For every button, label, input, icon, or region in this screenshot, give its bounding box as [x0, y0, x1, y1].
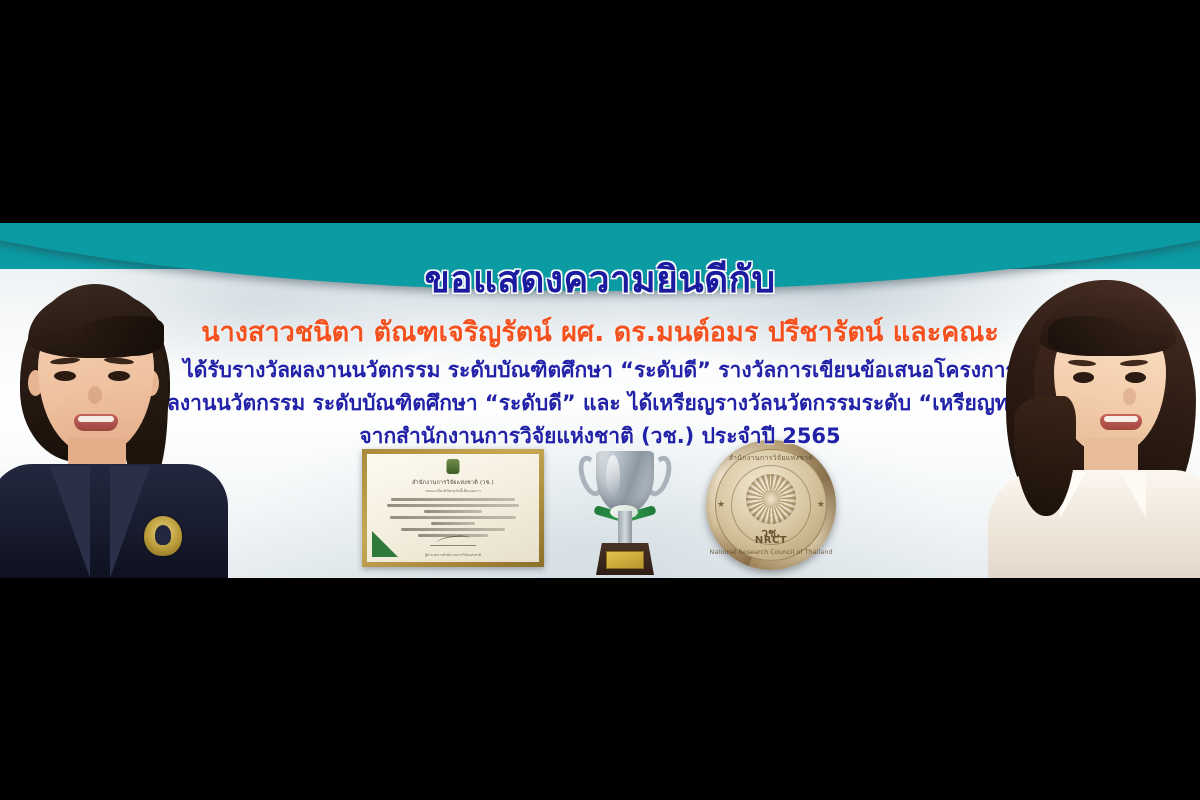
left-university-crest-icon: [144, 516, 182, 556]
right-eye-left: [1073, 372, 1094, 383]
right-mouth: [1100, 414, 1142, 430]
left-lapel-left: [50, 466, 90, 578]
left-hair-fringe: [28, 290, 164, 358]
right-nose: [1123, 388, 1136, 405]
banner-stage: สำนักงานการวิจัยแห่งชาติ (วช.) ขอมอบเกีย…: [0, 0, 1200, 800]
person-photo-right: [989, 278, 1200, 578]
congratulations-banner: สำนักงานการวิจัยแห่งชาติ (วช.) ขอมอบเกีย…: [0, 223, 1200, 578]
right-collar-right: [1120, 472, 1146, 518]
person-photo-left: [0, 278, 224, 578]
right-white-blouse: [988, 470, 1200, 578]
left-lapel-right: [110, 466, 150, 578]
left-eye-left: [54, 371, 76, 381]
right-eye-right: [1125, 372, 1146, 383]
left-mouth: [74, 414, 118, 431]
left-eye-right: [108, 371, 130, 381]
left-nose: [88, 386, 102, 404]
